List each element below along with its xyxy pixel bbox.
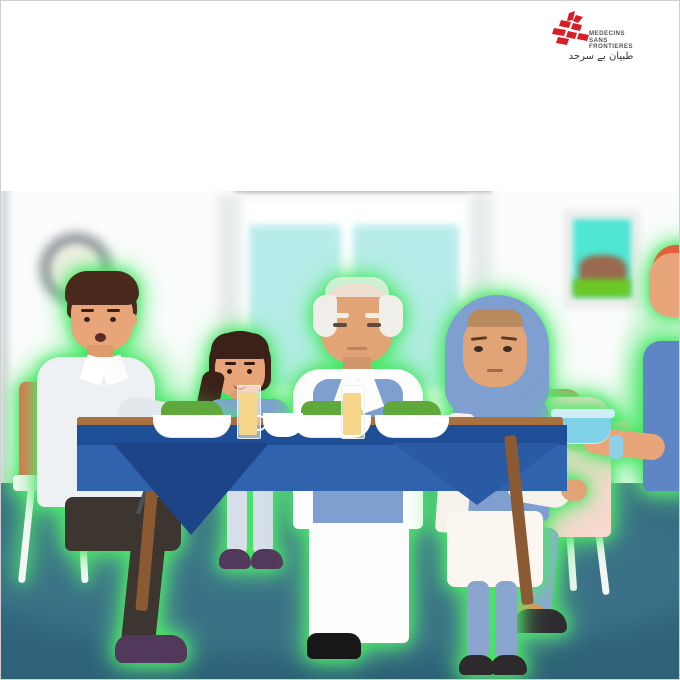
eye [110,317,116,322]
salad-bowl [153,415,231,437]
eyebrow [81,309,94,312]
ear [127,313,137,327]
eyebrow [365,313,383,318]
hairline [467,309,523,327]
tablecloth-drape-left [113,443,269,535]
eye [503,346,512,352]
illustration-scene [1,187,679,679]
hair-top [65,271,139,305]
mouth [487,369,503,372]
person-serving [635,245,679,575]
salad-bowl [375,415,449,437]
msf-logo-line2: SANS FRONTIERES [589,38,651,51]
eye [367,323,381,327]
mouth [95,333,106,342]
eye [227,369,232,374]
eye [333,323,347,327]
hair-fringe [211,333,269,359]
shoe [115,635,187,663]
hair [325,277,389,297]
eye [474,346,483,352]
leg [495,581,517,659]
leg [467,581,489,659]
shoe [307,633,361,659]
teacup [263,413,303,437]
eyebrow [107,309,120,312]
eye [84,317,90,322]
juice-liquid [343,393,361,435]
msf-logo: MEDECINS SANS FRONTIERES طبیان بے سرحد [531,11,651,73]
eyebrow [244,362,255,365]
eyebrow [225,362,236,365]
shoe [459,655,495,675]
eyebrow [331,313,349,318]
legs [309,523,409,643]
sleeve-cuff [609,435,623,459]
shoe [219,549,251,569]
tablecloth-drape-right [393,443,561,505]
poster-canvas: MEDECINS SANS FRONTIERES طبیان بے سرحد L… [0,0,680,680]
wall-edge-strip [1,187,11,497]
msf-logo-text: MEDECINS SANS FRONTIERES [589,31,651,51]
mouth [347,347,367,350]
eye [247,369,252,374]
shoe [491,655,527,675]
juice-liquid [239,393,257,435]
torso [643,341,679,491]
shoe [251,549,283,569]
msf-logo-urdu: طبیان بے سرحد [551,51,651,62]
head [649,253,679,317]
